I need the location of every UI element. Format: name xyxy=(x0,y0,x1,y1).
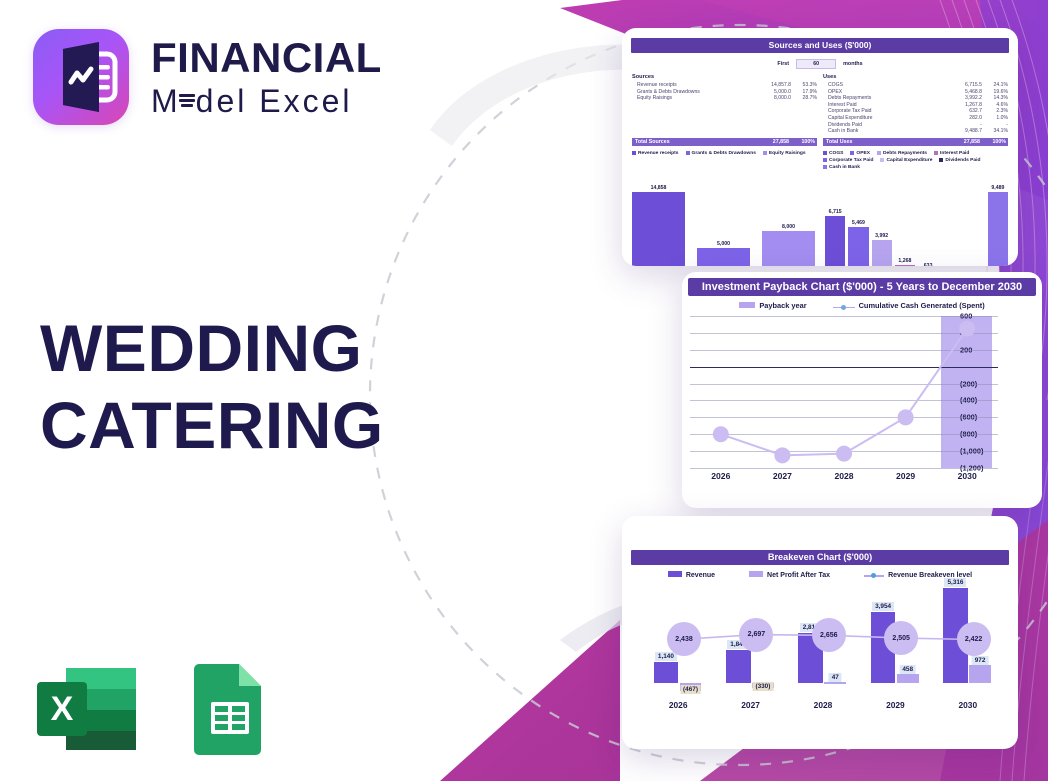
row-pct: 17.9% xyxy=(791,89,817,96)
x-tick-label: 2026 xyxy=(711,471,730,481)
chart-bar xyxy=(697,248,750,266)
row-pct: 2.3% xyxy=(982,108,1008,115)
chart-bar-label: 5,000 xyxy=(697,241,750,247)
app-icons: X xyxy=(33,660,269,763)
headline-line-1: WEDDING xyxy=(40,310,384,387)
legend-item: Corporate Tax Paid xyxy=(823,158,873,163)
chart-bar-label: 1,268 xyxy=(895,258,915,264)
legend-swatch xyxy=(934,151,938,155)
row-pct: 14.3% xyxy=(982,95,1008,102)
legend-swatch xyxy=(850,151,854,155)
table-row: Capital Expenditure 282.0 1.0% xyxy=(823,115,1008,122)
total-label: Total Uses xyxy=(823,138,946,146)
x-tick-label: 2029 xyxy=(896,471,915,481)
breakeven-title: Breakeven Chart ($'000) xyxy=(631,550,1009,565)
brand-line-2-rest: del Excel xyxy=(196,85,353,117)
row-name: COGS xyxy=(823,82,948,89)
legend-item: Revenue receipts xyxy=(632,151,679,156)
breakeven-bubble: 2,422 xyxy=(957,622,991,656)
legend-item: COGS xyxy=(823,151,843,156)
row-name: Interest Paid xyxy=(823,102,948,109)
chart-bar-label: 5,469 xyxy=(848,220,868,226)
row-name: OPEX xyxy=(823,89,948,96)
row-pct: 34.1% xyxy=(982,128,1008,135)
total-uses-row: Total Uses 27,858 100% xyxy=(823,138,1008,146)
table-row: COGS 6,715.5 24.1% xyxy=(823,82,1008,89)
net-profit-bar-label: 458 xyxy=(899,665,916,674)
uses-bar-chart: 6,7155,4693,9921,26863328209,489 xyxy=(825,176,1008,266)
revenue-bar-label: 3,954 xyxy=(872,602,894,611)
legend-label: OPEX xyxy=(856,151,870,156)
revenue-bar-label: 5,316 xyxy=(944,578,966,587)
x-tick-label: 2030 xyxy=(958,700,977,710)
legend-label: Cash in Bank xyxy=(829,165,860,170)
row-pct: - xyxy=(982,122,1008,129)
legend-item: Grants & Debts Drawdowns xyxy=(686,151,756,156)
net-profit-bar-label: (330) xyxy=(752,682,773,691)
microsoft-excel-icon: X xyxy=(33,660,141,763)
table-row: Debts Repayments 3,992.2 14.3% xyxy=(823,95,1008,102)
page-title: WEDDING CATERING xyxy=(40,310,384,464)
payback-line-series xyxy=(690,316,998,468)
legend-cumulative-cash: Cumulative Cash Generated (Spent) xyxy=(833,301,985,310)
legend-swatch xyxy=(823,165,827,169)
legend-revenue: Revenue xyxy=(668,571,715,579)
period-prefix-label: First xyxy=(777,61,789,67)
revenue-bar xyxy=(654,662,679,682)
chart-bar xyxy=(825,216,845,266)
legend-swatch xyxy=(686,151,690,155)
legend-label: COGS xyxy=(829,151,843,156)
sources-and-uses-card: Sources and Uses ($'000) First 60 months… xyxy=(622,28,1018,266)
table-row: Dividends Paid - - xyxy=(823,122,1008,129)
legend-line-marker xyxy=(864,575,884,577)
row-pct: 19.6% xyxy=(982,89,1008,96)
table-row: Revenue receipts 14,857.8 53.3% xyxy=(632,82,817,89)
row-name: Revenue receipts xyxy=(632,82,757,89)
legend-label: Dividends Paid xyxy=(945,158,980,163)
row-pct: 28.7% xyxy=(791,95,817,102)
total-value: 27,858 xyxy=(946,138,980,146)
legend-swatch xyxy=(749,571,763,577)
brand-line-2: M del Excel xyxy=(151,85,382,117)
row-name: Cash in Bank xyxy=(823,128,948,135)
total-value: 27,858 xyxy=(755,138,789,146)
brand-logo: FINANCIAL M del Excel xyxy=(33,29,382,125)
row-value: 282.0 xyxy=(948,115,982,122)
legend-swatch xyxy=(823,158,827,162)
chart-bar xyxy=(895,265,915,266)
total-pct: 100% xyxy=(789,138,817,146)
legend-swatch xyxy=(880,158,884,162)
legend-item: Equity Raisings xyxy=(763,151,806,156)
legend-swatch xyxy=(823,151,827,155)
legend-swatch xyxy=(668,571,682,577)
chart-bar xyxy=(848,227,868,266)
chart-bar xyxy=(632,192,685,266)
total-pct: 100% xyxy=(980,138,1008,146)
table-row: Grants & Debts Drawdowns 5,000.0 17.9% xyxy=(632,89,817,96)
legend-swatch xyxy=(939,158,943,162)
revenue-bar-label: 1,140 xyxy=(655,652,677,661)
chart-bar-label: 6,715 xyxy=(825,209,845,215)
legend-payback-year: Payback year xyxy=(739,301,806,310)
payback-legend: Payback year Cumulative Cash Generated (… xyxy=(682,301,1042,310)
legend-item: Capital Expenditure xyxy=(880,158,932,163)
legend-label: Grants & Debts Drawdowns xyxy=(692,151,756,156)
legend-label: Capital Expenditure xyxy=(886,158,932,163)
net-profit-bar-label: 47 xyxy=(829,673,842,682)
table-row: Equity Raisings 8,000.0 28.7% xyxy=(632,95,817,102)
legend-label: Debts Repayments xyxy=(883,151,927,156)
row-value: 9,488.7 xyxy=(948,128,982,135)
period-months-input[interactable]: 60 xyxy=(796,59,836,69)
sources-bar-chart: 14,8585,0008,000 xyxy=(632,176,815,266)
data-point xyxy=(836,446,852,462)
uses-chart-legend: COGSOPEXDebts RepaymentsInterest PaidCor… xyxy=(823,151,1008,172)
row-name: Equity Raisings xyxy=(632,95,757,102)
net-profit-bar-label: (467) xyxy=(680,685,701,694)
investment-payback-card: Investment Payback Chart ($'000) - 5 Yea… xyxy=(682,272,1042,508)
revenue-bar xyxy=(726,650,751,683)
row-pct: 4.6% xyxy=(982,102,1008,109)
legend-label: Revenue receipts xyxy=(638,151,679,156)
legend-net-profit: Net Profit After Tax xyxy=(749,571,830,579)
legend-swatch xyxy=(739,302,755,308)
brand-line-1: FINANCIAL xyxy=(151,37,382,79)
menu-lines-icon xyxy=(179,91,195,111)
chart-bar xyxy=(872,240,892,266)
chart-bar xyxy=(988,192,1008,266)
brand-line-2-lead: M xyxy=(151,85,178,117)
legend-item: OPEX xyxy=(850,151,870,156)
row-name: Corporate Tax Paid xyxy=(823,108,948,115)
data-point xyxy=(713,426,729,442)
chart-bar-label: 14,858 xyxy=(632,185,685,191)
net-profit-bar xyxy=(824,682,846,684)
row-value: 1,267.8 xyxy=(948,102,982,109)
total-label: Total Sources xyxy=(632,138,755,146)
x-tick-label: 2030 xyxy=(958,471,977,481)
total-sources-row: Total Sources 27,858 100% xyxy=(632,138,817,146)
chart-bar-label: 3,992 xyxy=(872,233,892,239)
x-tick-label: 2028 xyxy=(814,700,833,710)
row-name: Capital Expenditure xyxy=(823,115,948,122)
net-profit-bar xyxy=(897,674,919,682)
breakeven-card: Breakeven Chart ($'000) Revenue Net Prof… xyxy=(622,516,1018,749)
legend-swatch xyxy=(632,151,636,155)
row-name: Debts Repayments xyxy=(823,95,948,102)
legend-label: Interest Paid xyxy=(940,151,969,156)
table-row: Interest Paid 1,267.8 4.6% xyxy=(823,102,1008,109)
headline-line-2: CATERING xyxy=(40,387,384,464)
row-value: - xyxy=(948,122,982,129)
table-row: Corporate Tax Paid 632.7 2.3% xyxy=(823,108,1008,115)
row-pct: 53.3% xyxy=(791,82,817,89)
uses-column: Uses COGS 6,715.5 24.1% OPEX 5,468.8 19.… xyxy=(817,74,1008,146)
row-value: 14,857.8 xyxy=(757,82,791,89)
sources-uses-title: Sources and Uses ($'000) xyxy=(631,38,1009,53)
sources-column: Sources Revenue receipts 14,857.8 53.3% … xyxy=(632,74,817,146)
legend-line-marker xyxy=(833,307,855,309)
row-name: Grants & Debts Drawdowns xyxy=(632,89,757,96)
row-value: 6,715.5 xyxy=(948,82,982,89)
sources-header: Sources xyxy=(632,74,817,80)
row-pct: 24.1% xyxy=(982,82,1008,89)
payback-title: Investment Payback Chart ($'000) - 5 Yea… xyxy=(688,278,1036,296)
data-point xyxy=(959,321,975,337)
row-value: 5,468.8 xyxy=(948,89,982,96)
breakeven-x-axis: 20262027202820292030 xyxy=(642,695,1004,713)
row-value: 8,000.0 xyxy=(757,95,791,102)
net-profit-bar xyxy=(969,665,991,682)
chart-bar-label: 9,489 xyxy=(988,185,1008,191)
data-point xyxy=(774,447,790,463)
chart-bar-label: 8,000 xyxy=(762,224,815,230)
legend-item: Interest Paid xyxy=(934,151,969,156)
breakeven-bubble: 2,505 xyxy=(884,621,918,655)
breakeven-plot-area: 1,140(467)1,848(330)2,814473,9544585,316… xyxy=(642,583,1004,695)
legend-swatch xyxy=(763,151,767,155)
legend-item: Cash in Bank xyxy=(823,165,860,170)
promo-slide: FINANCIAL M del Excel WEDDING CATERING xyxy=(0,0,1048,781)
row-value: 3,992.2 xyxy=(948,95,982,102)
payback-x-axis: 20262027202820292030 xyxy=(690,468,998,484)
table-row: Cash in Bank 9,488.7 34.1% xyxy=(823,128,1008,135)
x-tick-label: 2026 xyxy=(669,700,688,710)
payback-plot-area: 600400200-(200)(400)(600)(800)(1,000)(1,… xyxy=(690,316,998,468)
table-row: OPEX 5,468.8 19.6% xyxy=(823,89,1008,96)
sources-chart-legend: Revenue receiptsGrants & Debts Drawdowns… xyxy=(632,151,817,158)
legend-swatch xyxy=(877,151,881,155)
x-tick-label: 2029 xyxy=(886,700,905,710)
google-sheets-icon xyxy=(189,660,269,763)
period-suffix-label: months xyxy=(843,61,862,67)
chart-bar xyxy=(762,231,815,266)
legend-label: Corporate Tax Paid xyxy=(829,158,873,163)
legend-item: Dividends Paid xyxy=(939,158,980,163)
logo-icon xyxy=(33,29,129,125)
row-name: Dividends Paid xyxy=(823,122,948,129)
period-selector-row: First 60 months xyxy=(622,59,1018,69)
row-value: 632.7 xyxy=(948,108,982,115)
net-profit-bar-label: 972 xyxy=(972,656,989,665)
chart-bar-label: 633 xyxy=(918,263,938,266)
data-point xyxy=(898,409,914,425)
legend-label: Equity Raisings xyxy=(769,151,806,156)
x-tick-label: 2027 xyxy=(773,471,792,481)
breakeven-bubble: 2,438 xyxy=(667,622,701,656)
breakeven-bubble: 2,697 xyxy=(739,618,773,652)
x-tick-label: 2028 xyxy=(834,471,853,481)
breakeven-bubble: 2,656 xyxy=(812,618,846,652)
x-tick-label: 2027 xyxy=(741,700,760,710)
svg-text:X: X xyxy=(51,690,74,728)
uses-header: Uses xyxy=(823,74,1008,80)
legend-item: Debts Repayments xyxy=(877,151,927,156)
row-pct: 1.0% xyxy=(982,115,1008,122)
row-value: 5,000.0 xyxy=(757,89,791,96)
